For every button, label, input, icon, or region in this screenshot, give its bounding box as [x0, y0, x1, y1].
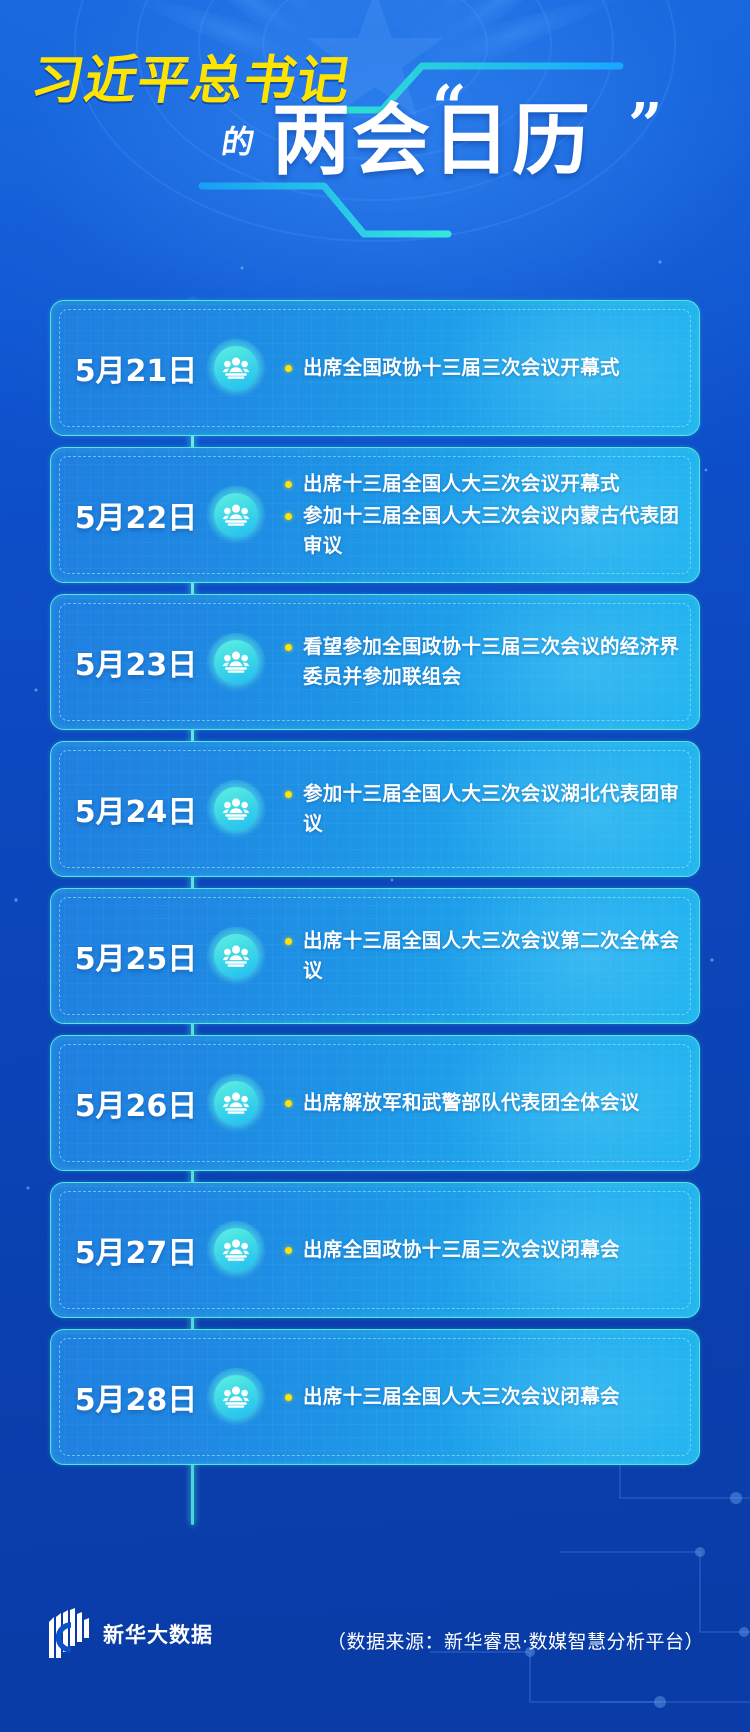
node-disc [214, 493, 258, 537]
timeline-event: 出席全国政协十三届三次会议开幕式 [285, 353, 683, 383]
timeline-card-list: 5月21日出席全国政协十三届三次会议开幕式5月22日出席十三届全国人大三次会议开… [0, 300, 750, 1465]
timeline-node [207, 633, 265, 691]
page-title-de: 的 [219, 126, 256, 158]
people-group-icon [223, 651, 249, 673]
people-group-icon [223, 357, 249, 379]
timeline-event: 看望参加全国政协十三届三次会议的经济界委员并参加联组会 [285, 632, 683, 692]
timeline-card[interactable]: 5月24日参加十三届全国人大三次会议湖北代表团审议 [50, 741, 700, 877]
timeline: 5月21日出席全国政协十三届三次会议开幕式5月22日出席十三届全国人大三次会议开… [0, 300, 750, 1476]
people-group-icon [223, 1092, 249, 1114]
node-disc [214, 934, 258, 978]
bullet-icon [285, 1394, 292, 1401]
timeline-events: 出席十三届全国人大三次会议闭幕会 [265, 1382, 699, 1412]
timeline-node [207, 486, 265, 544]
timeline-date: 5月25日 [63, 934, 209, 978]
card-inner: 5月23日看望参加全国政协十三届三次会议的经济界委员并参加联组会 [51, 595, 699, 729]
timeline-card[interactable]: 5月22日出席十三届全国人大三次会议开幕式参加十三届全国人大三次会议内蒙古代表团… [50, 447, 700, 583]
timeline-event-text: 出席十三届全国人大三次会议第二次全体会议 [303, 926, 683, 986]
bullet-icon [285, 481, 292, 488]
brand: 新华大数据 [47, 1608, 213, 1660]
card-inner: 5月24日参加十三届全国人大三次会议湖北代表团审议 [51, 742, 699, 876]
timeline-card[interactable]: 5月27日出席全国政协十三届三次会议闭幕会 [50, 1182, 700, 1318]
node-disc [214, 346, 258, 390]
timeline-date: 5月24日 [63, 787, 209, 831]
card-inner: 5月21日出席全国政协十三届三次会议开幕式 [51, 301, 699, 435]
timeline-event-text: 出席十三届全国人大三次会议闭幕会 [303, 1382, 683, 1412]
timeline-node [207, 1221, 265, 1279]
poster-footer: 新华大数据 （数据来源：新华睿思·数媒智慧分析平台） [0, 1542, 750, 1732]
timeline-event: 出席十三届全国人大三次会议第二次全体会议 [285, 926, 683, 986]
brand-name: 新华大数据 [103, 1619, 213, 1649]
timeline-card[interactable]: 5月23日看望参加全国政协十三届三次会议的经济界委员并参加联组会 [50, 594, 700, 730]
timeline-event: 出席十三届全国人大三次会议开幕式 [285, 469, 683, 499]
timeline-card[interactable]: 5月28日出席十三届全国人大三次会议闭幕会 [50, 1329, 700, 1465]
timeline-event-text: 出席全国政协十三届三次会议开幕式 [303, 353, 683, 383]
timeline-event: 出席全国政协十三届三次会议闭幕会 [285, 1235, 683, 1265]
timeline-event: 参加十三届全国人大三次会议湖北代表团审议 [285, 779, 683, 839]
card-inner: 5月27日出席全国政协十三届三次会议闭幕会 [51, 1183, 699, 1317]
card-inner: 5月22日出席十三届全国人大三次会议开幕式参加十三届全国人大三次会议内蒙古代表团… [51, 448, 699, 582]
people-group-icon [223, 504, 249, 526]
timeline-events: 出席十三届全国人大三次会议开幕式参加十三届全国人大三次会议内蒙古代表团审议 [265, 469, 699, 561]
bullet-icon [285, 1100, 292, 1107]
node-disc [214, 1375, 258, 1419]
accent-line-bottom-icon [196, 176, 456, 246]
timeline-date: 5月27日 [63, 1228, 209, 1272]
bullet-icon [285, 791, 292, 798]
people-group-icon [223, 798, 249, 820]
timeline-event-text: 出席解放军和武警部队代表团全体会议 [303, 1088, 683, 1118]
timeline-events: 出席全国政协十三届三次会议开幕式 [265, 353, 699, 383]
timeline-event: 出席十三届全国人大三次会议闭幕会 [285, 1382, 683, 1412]
page-title-main: 两会日历 [272, 102, 592, 180]
timeline-event: 出席解放军和武警部队代表团全体会议 [285, 1088, 683, 1118]
node-disc [214, 1228, 258, 1272]
bullet-icon [285, 513, 292, 520]
people-group-icon [223, 1386, 249, 1408]
timeline-date: 5月22日 [63, 493, 209, 537]
timeline-event-text: 参加十三届全国人大三次会议湖北代表团审议 [303, 779, 683, 839]
timeline-date: 5月26日 [63, 1081, 209, 1125]
poster-header: 习近平总书记 “ 的 两会日历 ” [0, 0, 750, 300]
timeline-events: 参加十三届全国人大三次会议湖北代表团审议 [265, 779, 699, 839]
timeline-card[interactable]: 5月21日出席全国政协十三届三次会议开幕式 [50, 300, 700, 436]
timeline-card[interactable]: 5月26日出席解放军和武警部队代表团全体会议 [50, 1035, 700, 1171]
timeline-event-text: 看望参加全国政协十三届三次会议的经济界委员并参加联组会 [303, 632, 683, 692]
poster-root: 习近平总书记 “ 的 两会日历 ” 5月21日出席全国政协十三届三次会议开幕式5… [0, 0, 750, 1732]
card-inner: 5月25日出席十三届全国人大三次会议第二次全体会议 [51, 889, 699, 1023]
people-group-icon [223, 1239, 249, 1261]
card-inner: 5月26日出席解放军和武警部队代表团全体会议 [51, 1036, 699, 1170]
bullet-icon [285, 1247, 292, 1254]
node-disc [214, 640, 258, 684]
timeline-event-text: 出席全国政协十三届三次会议闭幕会 [303, 1235, 683, 1265]
bullet-icon [285, 365, 292, 372]
timeline-node [207, 1074, 265, 1132]
timeline-node [207, 339, 265, 397]
timeline-node [207, 1368, 265, 1426]
timeline-events: 看望参加全国政协十三届三次会议的经济界委员并参加联组会 [265, 632, 699, 692]
timeline-event-text: 参加十三届全国人大三次会议内蒙古代表团审议 [303, 501, 683, 561]
data-source-note: （数据来源：新华睿思·数媒智慧分析平台） [327, 1627, 704, 1654]
timeline-events: 出席十三届全国人大三次会议第二次全体会议 [265, 926, 699, 986]
timeline-events: 出席全国政协十三届三次会议闭幕会 [265, 1235, 699, 1265]
people-group-icon [223, 945, 249, 967]
node-disc [214, 787, 258, 831]
timeline-date: 5月23日 [63, 640, 209, 684]
timeline-date: 5月28日 [63, 1375, 209, 1419]
timeline-event-text: 出席十三届全国人大三次会议开幕式 [303, 469, 683, 499]
timeline-event: 参加十三届全国人大三次会议内蒙古代表团审议 [285, 501, 683, 561]
card-inner: 5月28日出席十三届全国人大三次会议闭幕会 [51, 1330, 699, 1464]
timeline-card[interactable]: 5月25日出席十三届全国人大三次会议第二次全体会议 [50, 888, 700, 1024]
timeline-node [207, 927, 265, 985]
bullet-icon [285, 644, 292, 651]
xinhua-bigdata-logo-icon [47, 1608, 91, 1660]
node-disc [214, 1081, 258, 1125]
timeline-node [207, 780, 265, 838]
timeline-events: 出席解放军和武警部队代表团全体会议 [265, 1088, 699, 1118]
quote-close-mark: ” [628, 96, 663, 156]
timeline-date: 5月21日 [63, 346, 209, 390]
bullet-icon [285, 938, 292, 945]
